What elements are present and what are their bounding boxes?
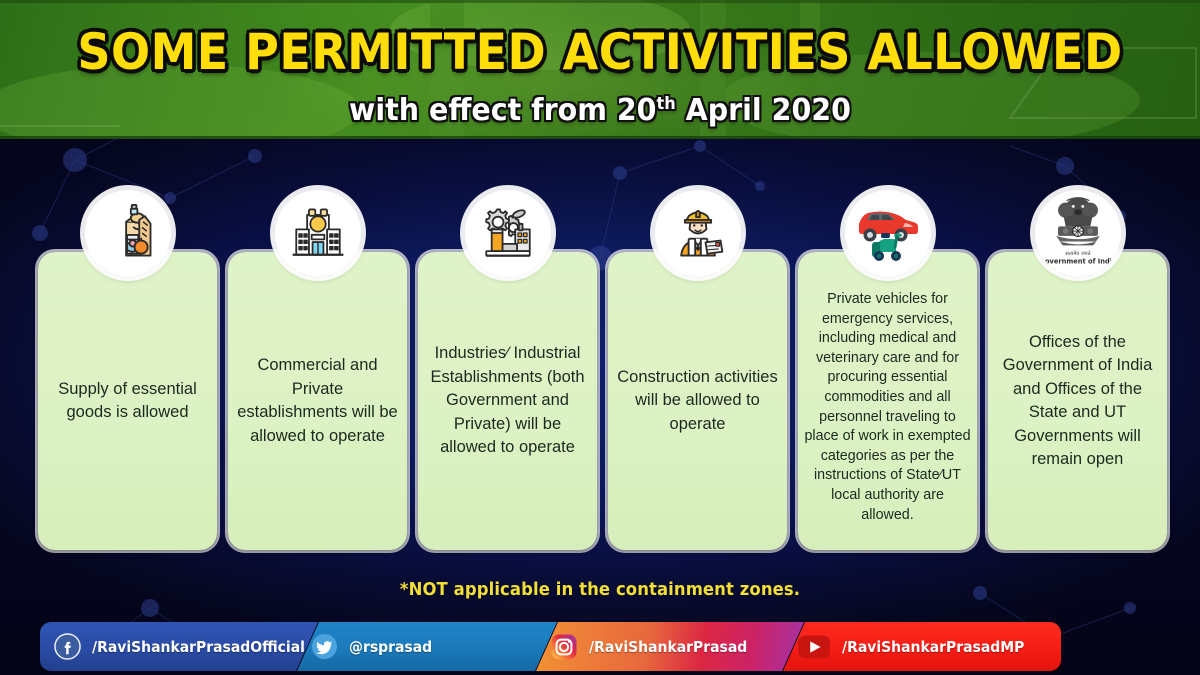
activity-cards-row: Supply of essential goods is allowed [0,0,1200,675]
grocery-bag-icon [85,190,171,276]
card-text: Commercial and Private establishments wi… [228,354,407,448]
activity-card-industries: Industries∕ Industrial Establishments (b… [418,252,597,550]
construction-worker-icon [655,190,741,276]
footnote-disclaimer: *NOT applicable in the containment zones… [36,580,1164,600]
activity-card-private-vehicles: Private vehicles for emergency services,… [798,252,977,550]
factory-gear-icon [465,190,551,276]
social-handle-instagram: /RaviShankarPrasad [589,638,747,656]
car-scooter-icon [845,190,931,276]
emblem-hindi-caption: सत्यमेव जयते [1065,250,1090,257]
card-text: Construction activities will be allowed … [608,366,787,437]
twitter-icon [311,633,338,660]
social-footer-bar: /RaviShankarPrasadOfficial @rsprasad [0,618,1200,675]
social-handle-youtube: /RaviShankarPrasadMP [842,638,1024,656]
activity-card-construction: Construction activities will be allowed … [608,252,787,550]
social-link-youtube[interactable]: /RaviShankarPrasadMP [783,622,1061,671]
youtube-icon [797,634,831,660]
social-link-twitter[interactable]: @rsprasad [297,622,557,671]
card-text: Supply of essential goods is allowed [38,378,217,425]
social-link-facebook[interactable]: /RaviShankarPrasadOfficial [40,622,318,671]
india-emblem-icon: सत्यमेव जयते Government of India [1035,190,1121,276]
infographic-canvas: SOME PERMITTED ACTIVITIES ALLOWED with e… [0,0,1200,675]
social-handle-twitter: @rsprasad [349,638,432,656]
office-building-icon [275,190,361,276]
card-text: Private vehicles for emergency services,… [798,290,977,525]
activity-card-commercial-establishments: Commercial and Private establishments wi… [228,252,407,550]
social-link-instagram[interactable]: /RaviShankarPrasad [536,622,804,671]
social-handle-facebook: /RaviShankarPrasadOfficial [92,638,305,656]
instagram-icon [550,633,578,661]
card-text: Industries∕ Industrial Establishments (b… [418,342,597,460]
activity-card-government-offices: सत्यमेव जयते Government of India Offices… [988,252,1167,550]
emblem-caption: Government of India [1045,257,1111,265]
facebook-icon [54,633,81,660]
card-text: Offices of the Government of India and O… [988,331,1167,472]
activity-card-essential-goods: Supply of essential goods is allowed [38,252,217,550]
